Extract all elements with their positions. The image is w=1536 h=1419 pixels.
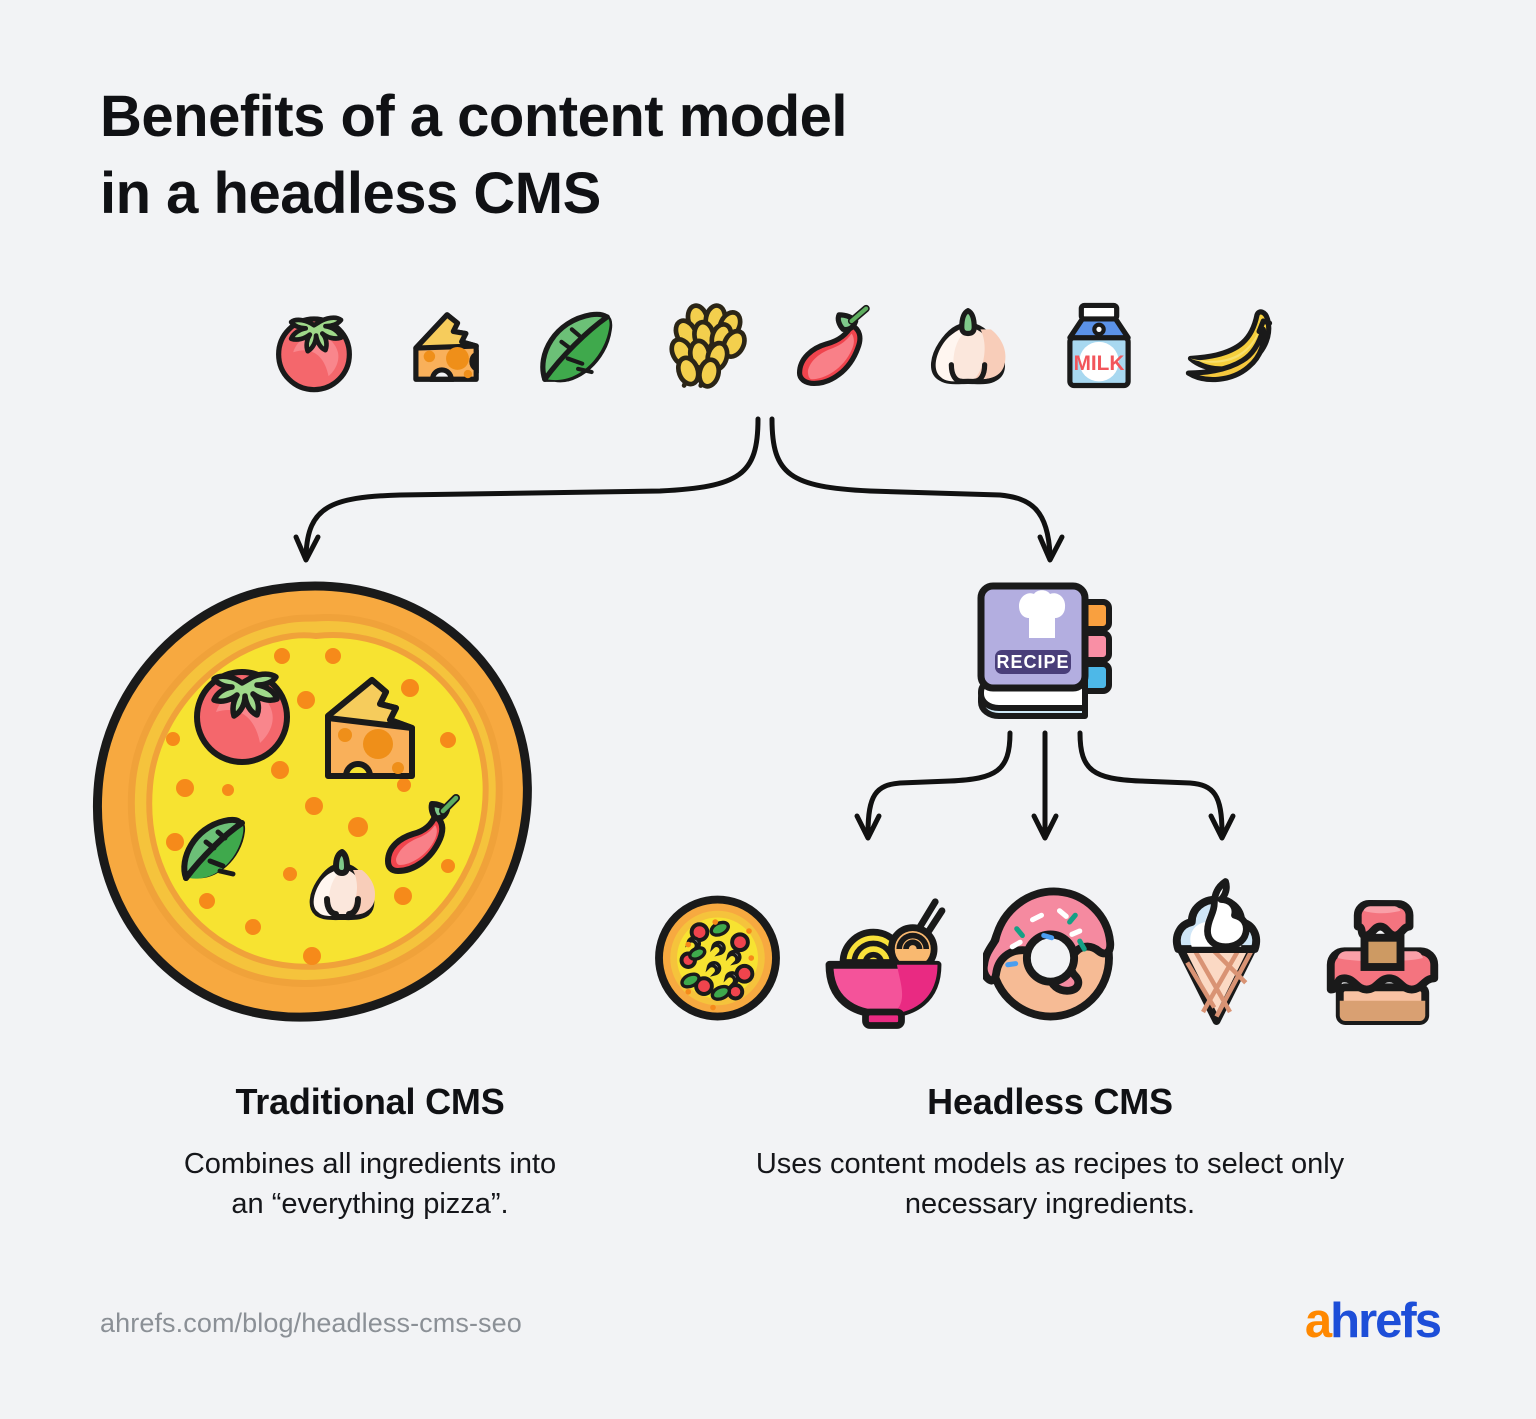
donut-icon xyxy=(983,878,1118,1038)
dish-row xyxy=(650,875,1450,1040)
infographic-canvas: Benefits of a content model in a headles… xyxy=(0,0,1536,1419)
recipe-badge-label: RECIPE xyxy=(996,652,1069,672)
milk-label: MILK xyxy=(1074,351,1125,374)
donut-hole xyxy=(1026,934,1073,981)
arrow-right-path xyxy=(772,419,1050,555)
fan-arrow-right-path xyxy=(1080,733,1222,833)
basil-leaf-icon xyxy=(524,294,628,398)
pizza-topping-tomato xyxy=(197,672,287,762)
banana-icon xyxy=(1178,294,1282,398)
garlic-icon xyxy=(916,294,1020,398)
ice-cream-cone-icon xyxy=(1149,878,1284,1038)
tomato-icon xyxy=(262,294,366,398)
pizza-small-icon xyxy=(650,878,785,1038)
milk-carton-icon: MILK xyxy=(1047,294,1151,398)
traditional-cms-caption: Traditional CMS Combines all ingredients… xyxy=(60,1082,680,1225)
ice-cream-swirl xyxy=(1207,881,1246,946)
headless-cms-heading: Headless CMS xyxy=(700,1082,1400,1122)
cake-tier-middle xyxy=(1365,937,1401,966)
noodle-bowl-icon xyxy=(816,878,951,1038)
source-url: ahrefs.com/blog/headless-cms-seo xyxy=(100,1308,522,1339)
recipe-book: RECIPE xyxy=(963,578,1128,728)
cake-icon xyxy=(1315,878,1450,1038)
wheat-icon xyxy=(655,294,759,398)
ingredient-row: MILK xyxy=(262,288,1282,403)
chili-pepper-icon xyxy=(785,294,889,398)
everything-pizza xyxy=(90,578,540,1030)
ahrefs-logo-rest: hrefs xyxy=(1330,1294,1440,1348)
cheese-icon xyxy=(393,294,497,398)
headless-cms-caption: Headless CMS Uses content models as reci… xyxy=(700,1082,1400,1225)
fan-arrow-left-path xyxy=(868,733,1010,833)
traditional-cms-body: Combines all ingredients into an “everyt… xyxy=(60,1144,680,1225)
ahrefs-logo: ahrefs xyxy=(1305,1297,1440,1346)
headless-cms-body: Uses content models as recipes to select… xyxy=(700,1144,1400,1225)
page-title: Benefits of a content model in a headles… xyxy=(100,78,847,232)
split-arrows-top xyxy=(0,395,1536,570)
traditional-cms-heading: Traditional CMS xyxy=(60,1082,680,1122)
fan-arrows-bottom xyxy=(780,715,1300,870)
ahrefs-logo-a: a xyxy=(1305,1294,1330,1348)
arrow-left-path xyxy=(306,419,758,555)
bowl-base xyxy=(866,1012,902,1026)
